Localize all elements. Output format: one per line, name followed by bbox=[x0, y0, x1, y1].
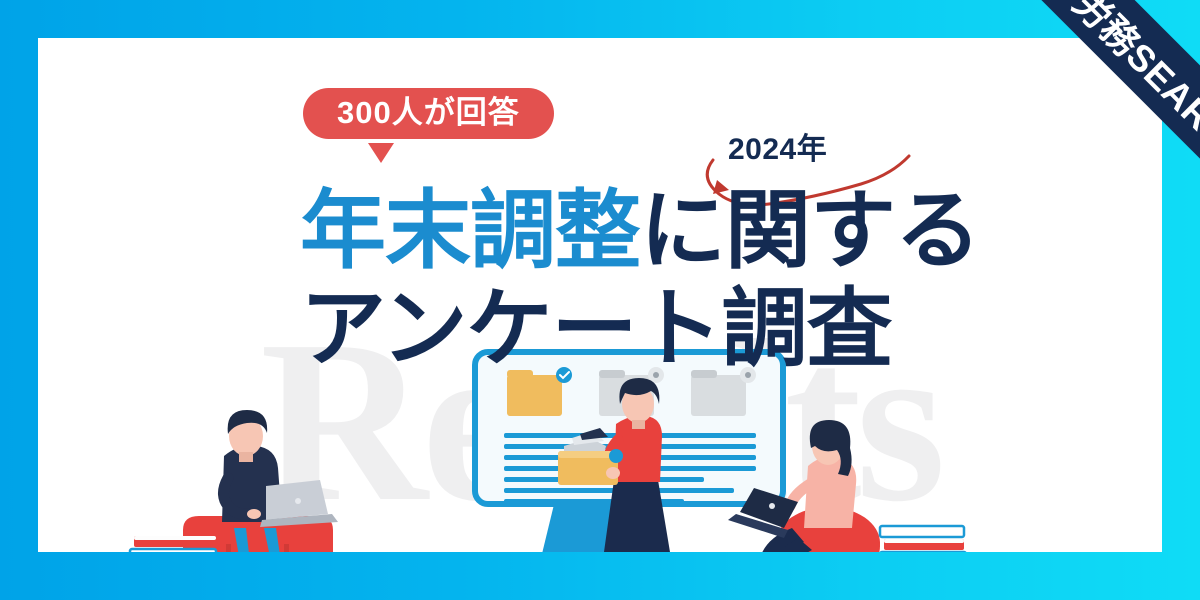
title-line-2: アンケート調査 bbox=[300, 286, 892, 372]
neck bbox=[632, 420, 645, 429]
book-stack-left bbox=[130, 536, 216, 552]
badge-pointer-tail bbox=[368, 143, 394, 163]
title-highlight: 年末調整 bbox=[300, 183, 640, 279]
box-badge bbox=[609, 449, 623, 463]
banner-canvas: Results bbox=[0, 0, 1200, 600]
sofa-seam-2 bbox=[284, 544, 289, 552]
book-stack-right bbox=[880, 526, 966, 552]
character-man-on-sofa bbox=[130, 410, 338, 552]
hand bbox=[247, 509, 261, 519]
respondents-badge: 300人が回答 bbox=[303, 88, 554, 139]
white-content-panel: Results bbox=[38, 38, 1162, 552]
heading-block: 300人が回答 2024年 年末調整に関する アンケート調査 bbox=[38, 38, 1162, 338]
hand-support bbox=[606, 467, 620, 479]
title-rest: に関する bbox=[640, 183, 980, 279]
sofa-seam-1 bbox=[226, 544, 231, 552]
laptop bbox=[260, 480, 338, 527]
year-annotation: 2024年 bbox=[728, 124, 827, 168]
neck bbox=[239, 452, 253, 462]
title-line-1: 年末調整に関する bbox=[300, 188, 980, 274]
